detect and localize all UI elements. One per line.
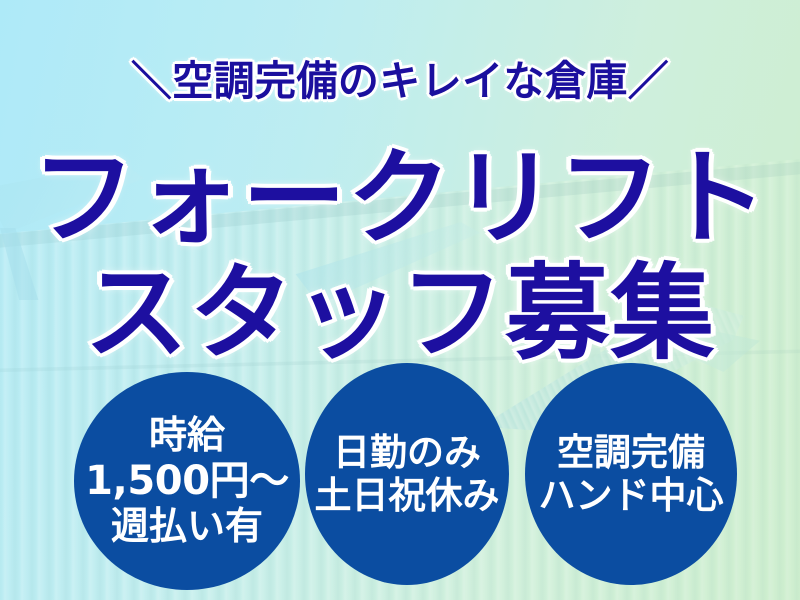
badge-shift: 日勤のみ 土日祝休み [305, 363, 509, 585]
badge-environment: 空調完備 ハンド中心 [525, 363, 737, 585]
badge-pay-wage: 1,500円〜 [85, 458, 289, 505]
badge-pay-line-1: 時給 [149, 413, 225, 457]
job-ad-banner: ＼空調完備のキレイな倉庫／ フォークリフト スタッフ募集 時給 1,500円〜 … [0, 0, 800, 600]
badge-environment-line-1: 空調完備 [557, 431, 705, 474]
badge-shift-line-2: 土日祝休み [315, 474, 500, 517]
badge-pay-line-3: 週払い有 [111, 504, 263, 548]
badge-environment-line-2: ハンド中心 [539, 474, 724, 517]
badge-shift-line-1: 日勤のみ [333, 431, 481, 474]
banner-content: ＼空調完備のキレイな倉庫／ フォークリフト スタッフ募集 時給 1,500円〜 … [0, 0, 800, 600]
badge-pay: 時給 1,500円〜 週払い有 [74, 372, 300, 590]
badge-group: 時給 1,500円〜 週払い有 日勤のみ 土日祝休み 空調完備 ハンド中心 [0, 0, 800, 600]
